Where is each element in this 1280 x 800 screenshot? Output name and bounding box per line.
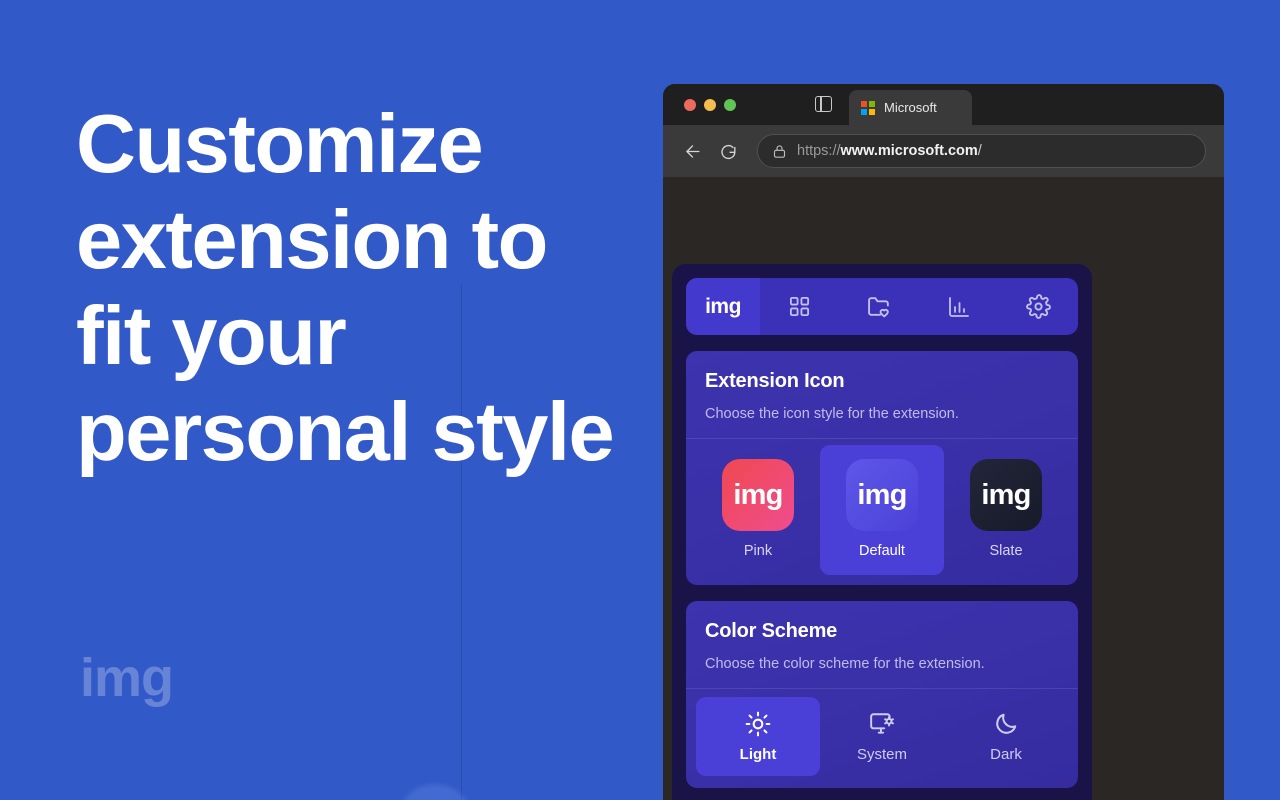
extension-icon-card: Extension Icon Choose the icon style for… [686,351,1078,585]
icon-option-slate[interactable]: img Slate [944,445,1068,575]
scheme-option-system[interactable]: System [820,697,944,776]
nav-item-settings[interactable] [999,278,1079,335]
icon-option-default[interactable]: img Default [820,445,944,575]
browser-window: Microsoft https://www.microsof [663,84,1224,800]
gear-icon [1026,294,1051,319]
color-scheme-subtitle: Choose the color scheme for the extensio… [705,656,1059,672]
hero-headline: Customize extension to fit your personal… [76,96,636,480]
icon-option-label: Pink [744,543,772,559]
icon-preview-slate: img [970,459,1042,531]
extension-popup: img [672,264,1092,800]
bar-chart-icon [947,295,971,319]
scheme-option-dark[interactable]: Dark [944,697,1068,776]
moon-icon [993,711,1019,737]
tab-title: Microsoft [884,100,937,115]
folder-heart-icon [867,294,892,319]
icon-option-pink[interactable]: img Pink [696,445,820,575]
extension-icon-card-header: Extension Icon Choose the icon style for… [686,351,1078,438]
sun-icon [745,711,771,737]
lock-icon [772,144,787,159]
extension-icon-options: img Pink img Default img Slate [686,439,1078,585]
grid-icon [788,295,811,318]
arrow-left-icon[interactable] [677,136,707,166]
microsoft-logo-icon [861,101,875,115]
scheme-option-label: Light [740,746,777,763]
browser-toolbar: https://www.microsoft.com/ [663,125,1224,177]
page-content-area [1098,185,1224,800]
icon-option-label: Default [859,543,905,559]
color-scheme-card: Color Scheme Choose the color scheme for… [686,601,1078,788]
address-bar[interactable]: https://www.microsoft.com/ [757,134,1206,168]
color-scheme-options: Light [686,689,1078,788]
extension-navbar: img [686,278,1078,335]
scheme-option-light[interactable]: Light [696,697,820,776]
minimize-button[interactable] [704,99,716,111]
nav-item-dashboard[interactable] [760,278,840,335]
icon-preview-pink: img [722,459,794,531]
decorative-blob [400,784,470,800]
promo-banner: Customize extension to fit your personal… [0,0,1280,800]
icon-preview-default: img [846,459,918,531]
browser-tab[interactable]: Microsoft [849,90,972,125]
extension-logo[interactable]: img [686,278,760,335]
browser-titlebar: Microsoft [663,84,1224,125]
close-button[interactable] [684,99,696,111]
hero-watermark-logo: img [80,648,173,708]
color-scheme-title: Color Scheme [705,620,1059,643]
color-scheme-card-header: Color Scheme Choose the color scheme for… [686,601,1078,688]
url-host: www.microsoft.com [841,143,978,159]
nav-item-stats[interactable] [919,278,999,335]
window-controls [684,99,736,111]
url-display: https://www.microsoft.com/ [797,143,982,159]
url-scheme: https:// [797,143,841,159]
browser-viewport: img [663,177,1224,800]
reload-icon[interactable] [713,136,743,166]
nav-item-collections[interactable] [840,278,920,335]
sidebar-panel-icon[interactable] [815,96,832,112]
extension-icon-title: Extension Icon [705,370,1059,393]
icon-option-label: Slate [989,543,1022,559]
extension-icon-subtitle: Choose the icon style for the extension. [705,406,1059,422]
maximize-button[interactable] [724,99,736,111]
scheme-option-label: Dark [990,746,1022,763]
url-path: / [978,143,982,159]
scheme-option-label: System [857,746,907,763]
monitor-cog-icon [869,711,895,737]
